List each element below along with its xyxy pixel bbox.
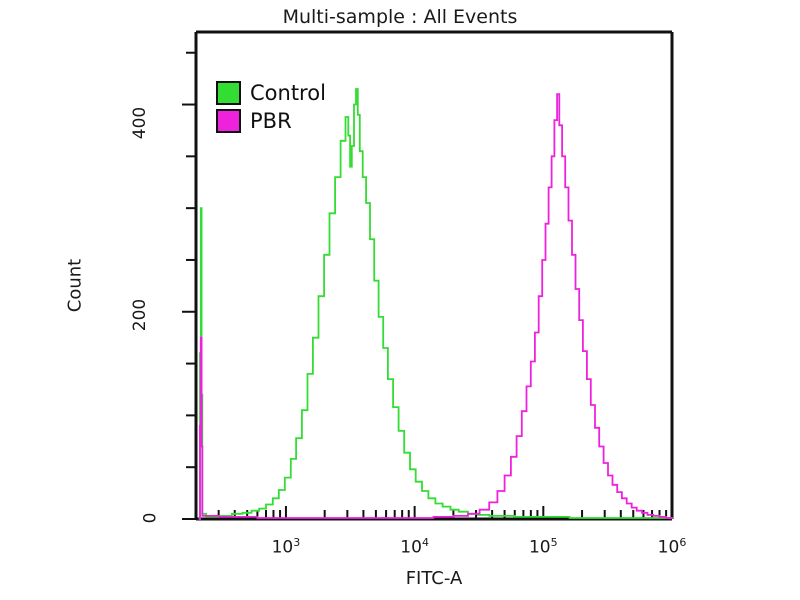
legend-item-control: Control [216,80,326,106]
flow-cytometry-histogram-figure: Multi-sample : All Events Control PBR 0 … [0,0,800,600]
y-tick-label-200: 200 [130,299,150,331]
x-tick-exponent-1e4: 4 [422,536,429,549]
legend-label-control: Control [250,82,326,104]
x-tick-exponent-1e5: 5 [551,536,558,549]
data-series-group [199,89,672,519]
y-tick-label-0: 0 [141,513,161,524]
legend: Control PBR [216,80,326,134]
x-tick-label-1e5: 105 [529,536,558,558]
y-axis-ticks [182,53,196,519]
legend-label-pbr: PBR [250,110,292,132]
legend-swatch-control [216,81,241,105]
y-tick-label-0-wrap: 0 [96,508,156,528]
y-axis-label: Count [65,206,86,366]
x-tick-mantissa-1e6: 10 [658,538,680,558]
x-tick-mantissa-1e5: 10 [529,538,551,558]
series-curve-control [199,89,672,519]
x-tick-label-1e4: 104 [400,536,429,558]
x-tick-exponent-1e3: 3 [293,536,300,549]
x-tick-exponent-1e6: 6 [679,536,686,549]
y-tick-label-400-wrap: 400 [96,113,156,133]
x-tick-label-1e6: 106 [658,536,687,558]
x-axis-label: FITC-A [196,568,672,589]
y-tick-label-200-wrap: 200 [96,305,156,325]
x-tick-mantissa-1e3: 10 [272,538,294,558]
y-tick-label-400: 400 [130,107,150,139]
x-tick-label-1e3: 103 [272,536,301,558]
x-tick-mantissa-1e4: 10 [400,538,422,558]
legend-swatch-pbr [216,109,241,133]
legend-item-pbr: PBR [216,108,326,134]
series-curve-pbr [199,94,672,519]
